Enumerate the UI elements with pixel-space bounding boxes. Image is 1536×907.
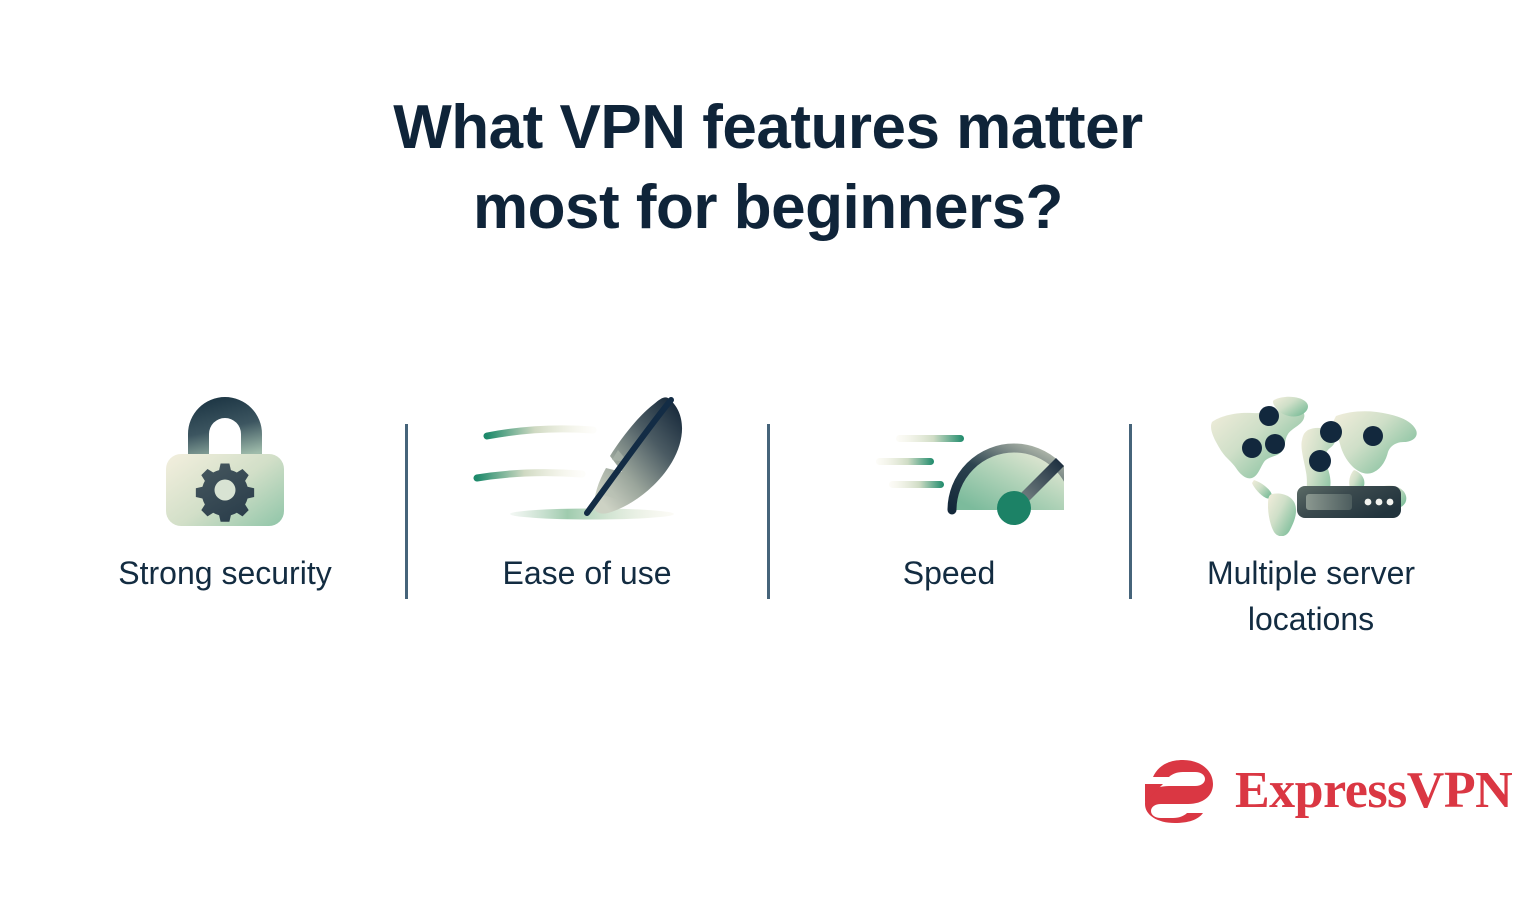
infographic-canvas: What VPN features matter most for beginn…: [0, 0, 1536, 907]
title-line-2: most for beginners?: [0, 168, 1536, 248]
title-line-1: What VPN features matter: [0, 88, 1536, 168]
feature-label: Ease of use: [503, 550, 672, 596]
world-map-server-icon: [1196, 386, 1426, 536]
icon-container: [784, 386, 1114, 536]
page-title: What VPN features matter most for beginn…: [0, 88, 1536, 248]
server-rack: [1297, 486, 1401, 518]
icon-container: [422, 386, 752, 536]
icon-container: [1146, 386, 1476, 536]
feature-speed: Speed: [784, 386, 1114, 596]
feature-label: Strong security: [118, 550, 331, 596]
feature-label: Multiple server locations: [1161, 550, 1461, 642]
expressvpn-logo: ExpressVPN: [1143, 758, 1512, 824]
feature-ease-of-use: Ease of use: [422, 386, 752, 596]
divider-3: [1129, 424, 1132, 599]
feature-list: Strong security: [60, 386, 1476, 642]
icon-container: [60, 386, 390, 536]
feather-icon: [472, 386, 702, 536]
feature-multiple-server-locations: Multiple server locations: [1146, 386, 1476, 642]
feature-label: Speed: [903, 550, 996, 596]
feature-strong-security: Strong security: [60, 386, 390, 596]
speedometer-icon: [834, 386, 1064, 536]
expressvpn-wordmark: ExpressVPN: [1235, 763, 1512, 819]
divider-2: [767, 424, 770, 599]
expressvpn-logo-icon: [1143, 758, 1217, 824]
divider-1: [405, 424, 408, 599]
padlock-gear-icon: [151, 386, 299, 536]
